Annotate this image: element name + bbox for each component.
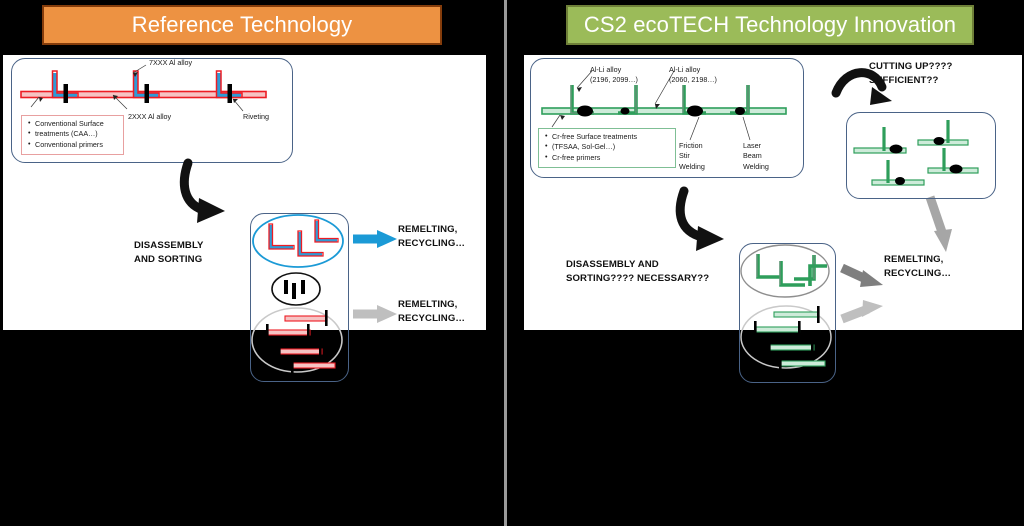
right-disassembly-arrow xyxy=(680,191,724,251)
left-output-label-1: REMELTING, RECYCLING… xyxy=(398,223,465,251)
right-panel: Al-Li alloy (2196, 2099…) Al-Li alloy (2… xyxy=(524,55,1022,330)
left-panel-title-text: Reference Technology xyxy=(132,12,353,38)
callout-bullet-cont: (TFSAA, Sol-Gel…) xyxy=(552,142,671,152)
right-output-arrow-vertical xyxy=(930,197,952,252)
right-label-lbw: Laser Beam Welding xyxy=(743,141,769,172)
left-panel-title: Reference Technology xyxy=(42,5,442,45)
right-surface-treatment-callout: Cr-free Surface treatments (TFSAA, Sol-G… xyxy=(538,128,676,168)
right-label-alli-left: Al-Li alloy (2196, 2099…) xyxy=(590,65,638,86)
left-output-arrow-blue xyxy=(353,230,397,248)
right-label-alli-mid: Al-Li alloy (2060, 2198…) xyxy=(669,65,717,86)
left-surface-treatment-callout: Conventional Surface treatments (CAA…) C… xyxy=(21,115,124,155)
right-output-arrow-dark xyxy=(842,268,883,287)
right-label-fsw: Friction Stir Welding xyxy=(679,141,705,172)
left-output-arrow-gray xyxy=(353,305,397,323)
left-output-label-2: REMELTING, RECYCLING… xyxy=(398,298,465,326)
left-label-7xxx: 7XXX Al alloy xyxy=(149,58,192,68)
right-cutting-label: CUTTING UP???? SUFFICIENT?? xyxy=(869,60,952,88)
callout-bullet: Cr-free Surface treatments xyxy=(552,132,671,142)
right-sorting-box xyxy=(739,243,836,383)
left-disassembly-arrow xyxy=(184,163,225,223)
left-sorting-box xyxy=(250,213,349,382)
left-label-2xxx: 2XXX Al alloy xyxy=(128,112,171,122)
left-process-label: DISASSEMBLY AND SORTING xyxy=(134,239,204,267)
left-panel: 7XXX Al alloy 2XXX Al alloy Riveting Con… xyxy=(3,55,486,330)
right-panel-title: CS2 ecoTECH Technology Innovation xyxy=(566,5,974,45)
callout-bullet: Conventional primers xyxy=(35,140,119,150)
callout-bullet-cont: treatments (CAA…) xyxy=(35,129,119,139)
right-process-label: DISASSEMBLY AND SORTING???? NECESSARY?? xyxy=(566,258,709,286)
right-cut-parts-box xyxy=(846,112,996,199)
left-label-riveting: Riveting xyxy=(243,112,269,122)
callout-bullet: Conventional Surface xyxy=(35,119,119,129)
slide-canvas: Reference Technology CS2 ecoTECH Technol… xyxy=(0,0,1024,526)
right-panel-title-text: CS2 ecoTECH Technology Innovation xyxy=(584,12,956,38)
right-output-label: REMELTING, RECYCLING… xyxy=(884,253,951,281)
right-output-arrow-light xyxy=(842,300,883,319)
panel-divider xyxy=(504,0,507,526)
callout-bullet: Cr-free primers xyxy=(552,153,671,163)
